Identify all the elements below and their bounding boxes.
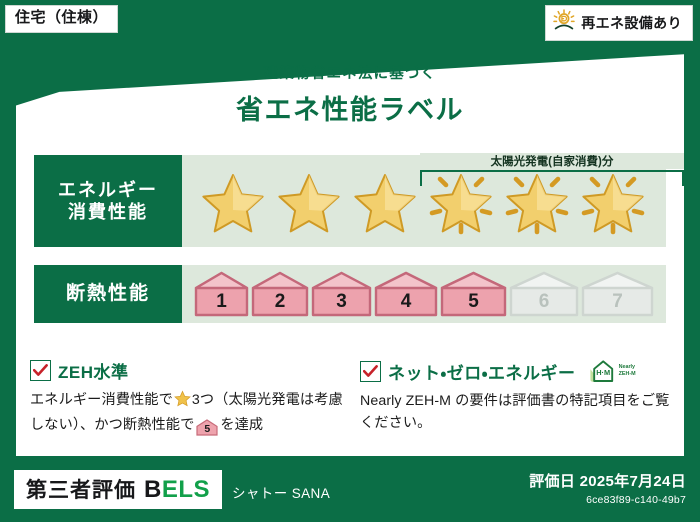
bels-logo-els: ELS — [162, 476, 210, 503]
insulation-level-label: 2 — [275, 291, 286, 313]
third-party-eval-label: 第三者評価 — [26, 474, 136, 504]
label-footer: 第三者評価 BELS シャトー SANA 評価日 2025年7月24日 6ce8… — [0, 462, 700, 522]
zeh-m-house-icon: H·M — [587, 358, 617, 384]
insulation-level-label: 3 — [336, 291, 347, 313]
evaluation-date-block: 評価日 2025年7月24日 6ce83f89-c140-49b7 — [529, 470, 686, 506]
insulation-level-label: 5 — [468, 291, 479, 313]
zeh-body-part1: エネルギー消費性能で — [30, 392, 173, 408]
zeh-body-stars: 3つ（太陽光発電 — [192, 392, 300, 408]
insulation-key-label: 断熱性能 — [66, 282, 150, 306]
page-title: 省エネ性能ラベル — [0, 88, 700, 127]
criterion-net-zero-header: ネット・ゼロ・エネルギー H·M Nearly ZEH-M — [360, 358, 678, 384]
bels-logo-b: B — [144, 476, 162, 503]
evaluation-date-label: 評価日 — [529, 473, 575, 490]
insulation-level-4: 4 — [374, 271, 438, 317]
insulation-level-label: 1 — [216, 291, 227, 313]
label-title-block: 建築物省エネ法に基づく 省エネ性能ラベル — [0, 62, 700, 127]
inline-house-label: 5 — [204, 423, 210, 435]
check-icon — [33, 364, 48, 377]
criterion-net-zero: ネット・ゼロ・エネルギー H·M Nearly ZEH-M Nearly ZEH… — [360, 358, 678, 434]
housing-type-label: 住宅（住棟） — [15, 9, 108, 26]
star-filled — [196, 166, 270, 236]
star-filled — [348, 166, 422, 236]
energy-performance-value: 太陽光発電(自家消費)分 — [182, 155, 666, 247]
housing-type-chip: 住宅（住棟） — [5, 5, 118, 33]
bels-certification-box: 第三者評価 BELS — [14, 470, 222, 509]
svg-text:H·M: H·M — [596, 368, 610, 377]
insulation-performance-value: 1 2 3 4 5 6 7 — [182, 265, 666, 323]
star-solar — [576, 166, 650, 236]
insulation-level-1: 1 — [194, 271, 249, 317]
star-solar — [500, 166, 574, 236]
criterion-net-zero-title: ネット・ゼロ・エネルギー — [388, 359, 576, 384]
insulation-level-3: 3 — [311, 271, 372, 317]
label-subtitle: 建築物省エネ法に基づく — [0, 62, 700, 83]
insulation-level-label: 4 — [401, 291, 412, 313]
criterion-net-zero-body: Nearly ZEH-M の要件は評価書の特記項目をご覧ください。 — [360, 391, 678, 434]
record-id: 6ce83f89-c140-49b7 — [529, 494, 686, 506]
insulation-level-6: 6 — [509, 271, 579, 317]
energy-key-line2: 消費性能 — [68, 201, 148, 224]
insulation-performance-row: 断熱性能 1 2 3 4 5 6 — [34, 265, 666, 323]
energy-performance-row: エネルギー 消費性能 太陽光発電(自家消費)分 — [34, 155, 666, 247]
energy-performance-key: エネルギー 消費性能 — [34, 155, 182, 247]
energy-key-line1: エネルギー — [58, 179, 158, 202]
zeh-m-logo-sub1: Nearly — [619, 364, 636, 371]
net-zero-checkbox[interactable] — [360, 361, 381, 382]
insulation-level-label: 6 — [539, 291, 550, 313]
property-name: シャトー SANA — [232, 482, 330, 502]
criterion-zeh-header: ZEH水準 — [30, 358, 348, 383]
zeh-checkbox[interactable] — [30, 360, 51, 381]
star-filled — [272, 166, 346, 236]
evaluation-date: 評価日 2025年7月24日 — [529, 470, 686, 491]
inline-star-icon — [174, 395, 191, 411]
insulation-performance-key: 断熱性能 — [34, 265, 182, 323]
star-solar — [424, 166, 498, 236]
renewable-equipment-badge: 再エネ設備あり — [545, 5, 693, 41]
insulation-level-label: 7 — [612, 291, 623, 313]
renewable-equipment-label: 再エネ設備あり — [581, 13, 682, 33]
criterion-zeh-title: ZEH水準 — [58, 358, 129, 383]
evaluation-date-value: 2025年7月24日 — [580, 473, 686, 490]
zeh-m-logo: H·M Nearly ZEH-M — [587, 358, 636, 384]
criterion-zeh-body: エネルギー消費性能で3つ（太陽光発電は考慮しない）、かつ断熱性能で5を達成 — [30, 390, 348, 436]
insulation-level-5: 5 — [440, 271, 507, 317]
insulation-level-scale: 1 2 3 4 5 6 7 — [182, 271, 654, 317]
insulation-level-7: 7 — [581, 271, 654, 317]
energy-star-rating — [182, 166, 650, 236]
energy-performance-label: 住宅（住棟） 再エネ設備あり 建築物省エネ法に基づく — [0, 0, 700, 522]
zeh-m-logo-sub2: ZEH-M — [619, 371, 636, 378]
check-icon — [363, 365, 378, 378]
inline-house-badge: 5 — [196, 419, 218, 436]
solar-sun-icon — [552, 9, 576, 37]
insulation-level-2: 2 — [251, 271, 309, 317]
zeh-body-part3: を達成 — [220, 417, 263, 433]
criterion-zeh: ZEH水準 エネルギー消費性能で3つ（太陽光発電は考慮しない）、かつ断熱性能で5… — [30, 358, 348, 436]
bels-logo: BELS — [144, 476, 210, 504]
